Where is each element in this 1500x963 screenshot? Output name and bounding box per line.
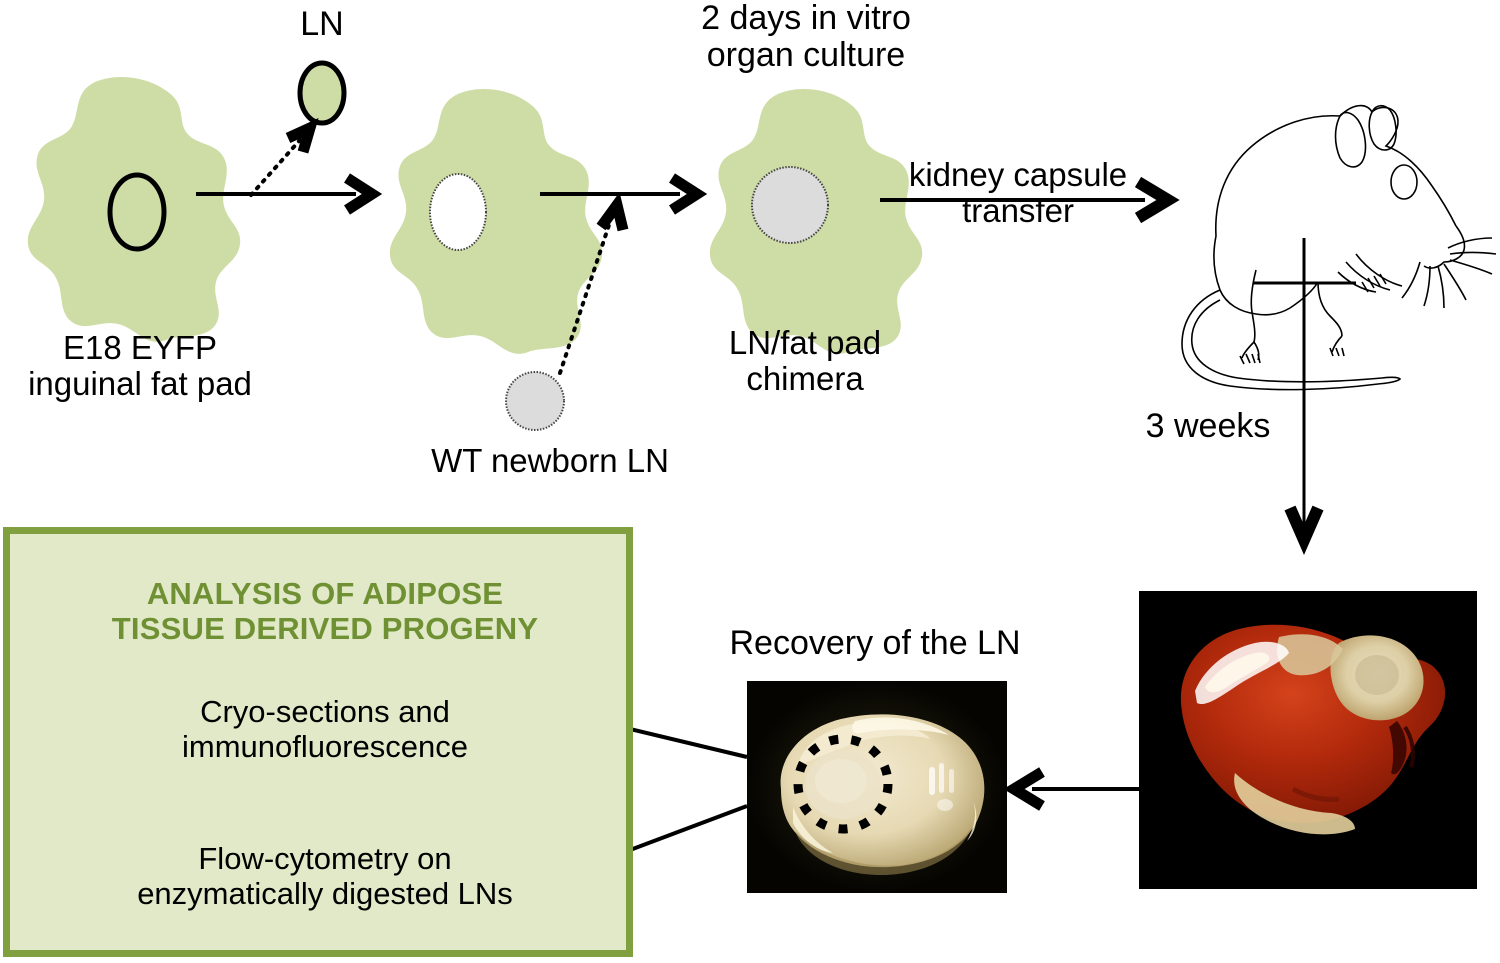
dotted-arrow-extract-ln <box>251 128 310 195</box>
label-recovery-of-the-ln: Recovery of the LN <box>690 625 1060 662</box>
fat-pad-2-shape <box>390 89 602 354</box>
analysis-panel-title: ANALYSIS OF ADIPOSE TISSUE DERIVED PROGE… <box>10 576 640 646</box>
label-3-weeks: 3 weeks <box>1128 408 1288 445</box>
timeline-axis-3-weeks <box>1253 238 1356 540</box>
label-wt-newborn-ln: WT newborn LN <box>400 443 700 479</box>
figure-canvas: LN E18 EYFP inguinal fat pad 2 days in v… <box>0 0 1500 963</box>
empty-cavity-in-fat-pad-2 <box>430 174 486 250</box>
arrow-step2-to-step3 <box>540 178 697 210</box>
recovered-lymph-node-photo <box>747 681 1007 893</box>
ln-outline-in-fat-pad-1 <box>110 175 164 249</box>
label-kidney-capsule-transfer: kidney capsule transfer <box>885 157 1151 228</box>
ln-oval-green <box>300 63 344 123</box>
gray-ln-in-chimera <box>752 167 828 243</box>
label-2-days-in-vitro-organ-culture: 2 days in vitro organ culture <box>646 0 966 73</box>
recipient-mouse-drawing <box>1182 106 1496 390</box>
kidney-with-graft-photo <box>1139 591 1477 889</box>
fat-pad-1-shape <box>28 77 240 342</box>
label-ln-fat-pad-chimera: LN/fat pad chimera <box>690 325 920 396</box>
label-ln: LN <box>282 6 362 43</box>
dotted-arrow-insert-wt-ln <box>560 205 623 373</box>
arrow-step1-to-step2 <box>196 178 372 210</box>
analysis-item-flow-cytometry: Flow-cytometry on enzymatically digested… <box>10 841 640 912</box>
label-e18-eyfp-inguinal-fat-pad: E18 EYFP inguinal fat pad <box>10 330 270 401</box>
arrow-kidney-to-ln-photo <box>1014 772 1139 806</box>
analysis-item-cryo-sections: Cryo-sections and immunofluorescence <box>10 694 640 765</box>
wt-newborn-ln-circle <box>506 372 564 430</box>
analysis-panel: ANALYSIS OF ADIPOSE TISSUE DERIVED PROGE… <box>3 527 633 957</box>
